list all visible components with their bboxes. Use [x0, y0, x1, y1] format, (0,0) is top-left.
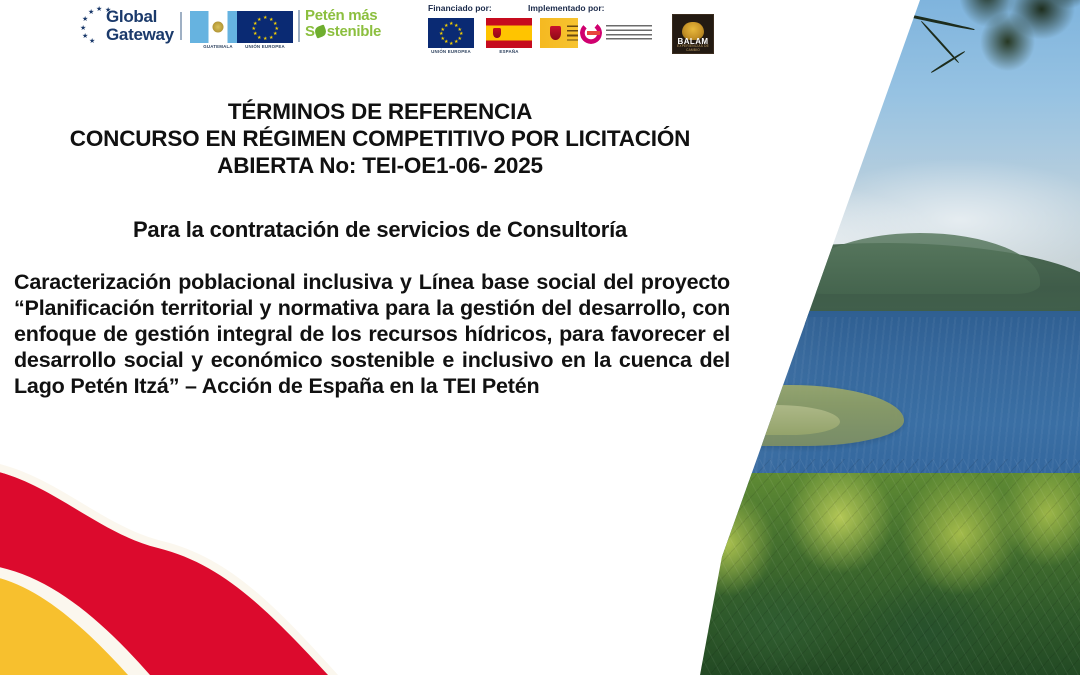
logo-divider-3	[298, 10, 300, 42]
cooperacion-espanola-logo	[578, 18, 656, 48]
document-body-paragraph: Caracterización poblacional inclusiva y …	[14, 243, 730, 399]
eu-caption: UNIÓN EUROPEA	[237, 44, 293, 49]
pms-line1: Petén más	[305, 7, 377, 24]
pms-leaf-icon	[314, 24, 328, 38]
peten-mas-sostenible-logo: Petén más Sstenible	[305, 8, 381, 39]
global-gateway-line2: Gateway	[106, 25, 174, 44]
spain-shield-icon	[493, 28, 501, 38]
global-gateway-line1: Global	[106, 7, 157, 26]
gobierno-shield-icon	[550, 26, 561, 40]
poster-page: ★ ★ ★ ★ ★ ★ ★ Global Gateway GUATEMALA	[0, 0, 1080, 675]
pms-line2-pre: S	[305, 23, 315, 40]
logo-divider-1	[180, 12, 182, 40]
financiado-header: Financiado por:	[428, 3, 492, 13]
logo-bar: ★ ★ ★ ★ ★ ★ ★ Global Gateway GUATEMALA	[0, 0, 740, 60]
spain-caption: ESPAÑA	[486, 49, 532, 54]
title-line-1: TÉRMINOS DE REFERENCIA	[30, 98, 730, 125]
page-title: TÉRMINOS DE REFERENCIA CONCURSO EN RÉGIM…	[30, 60, 730, 179]
eu-financier-stars-icon: ★★ ★★ ★★ ★★ ★★ ★★	[428, 18, 474, 48]
document-content: TÉRMINOS DE REFERENCIA CONCURSO EN RÉGIM…	[0, 60, 760, 399]
cooperacion-bar-icon	[587, 31, 600, 35]
document-subtitle: Para la contratación de servicios de Con…	[30, 179, 730, 243]
cooperacion-text-lines	[606, 25, 652, 41]
photo-forest-texture	[680, 459, 1080, 675]
guatemala-emblem-icon	[213, 22, 224, 33]
photo-leaf-cluster-right	[960, 0, 1080, 74]
spain-flag-icon: ESPAÑA	[486, 18, 532, 48]
pms-line2-post: stenible	[327, 23, 381, 40]
eu-flag-icon: ★★ ★★ ★★ ★★ ★★ ★★ UNIÓN EUROPEA	[237, 11, 293, 43]
eu-stars-icon: ★★ ★★ ★★ ★★ ★★ ★★	[237, 11, 293, 43]
global-gateway-wordmark: Global Gateway	[106, 8, 174, 43]
eu-financier-flag-icon: ★★ ★★ ★★ ★★ ★★ ★★ UNIÓN EUROPEA	[428, 18, 474, 48]
title-line-3: ABIERTA No: TEI-OE1-06- 2025	[30, 152, 730, 179]
photo-leaf-4	[815, 64, 838, 78]
title-line-2: CONCURSO EN RÉGIMEN COMPETITIVO POR LICI…	[30, 125, 730, 152]
implementado-header: Implementado por:	[528, 3, 605, 13]
balam-logo: BALAM EXPERIENCIAS DE CAMBIO	[672, 14, 714, 54]
global-gateway-logo: ★ ★ ★ ★ ★ ★ ★ Global Gateway	[80, 4, 175, 50]
eu-financier-caption: UNIÓN EUROPEA	[428, 49, 474, 54]
balam-tagline: EXPERIENCIAS DE CAMBIO	[673, 44, 713, 52]
